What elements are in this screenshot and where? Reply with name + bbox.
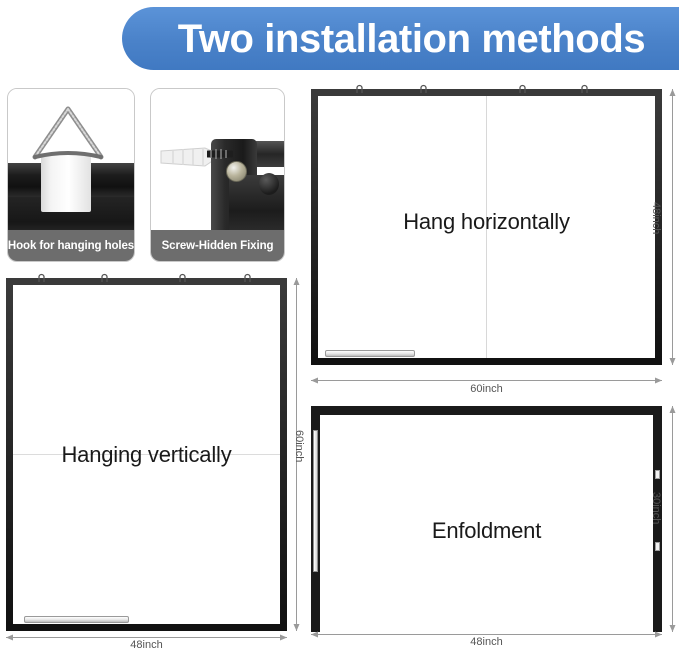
dimension-label-60inch: 60inch xyxy=(311,383,662,395)
hanging-hook-icon xyxy=(355,81,364,91)
roller-strip-icon xyxy=(325,350,415,357)
header-banner: Two installation methods xyxy=(122,7,679,70)
white-strap-icon xyxy=(41,155,91,212)
dimension-label-48inch-vertical-screen: 48inch xyxy=(6,639,287,651)
hanging-hook-icon xyxy=(243,270,252,280)
dimension-label-60inch: 60inch xyxy=(293,430,305,462)
hanging-hook-icon xyxy=(580,81,589,91)
screw-caption: Screw-Hidden Fixing xyxy=(151,230,284,261)
screen-label-horizontal: Hang horizontally xyxy=(311,209,662,235)
screw-photo-stage xyxy=(151,89,284,230)
dimension-line-48inch xyxy=(668,89,677,365)
right-post-notch-icon xyxy=(655,470,660,479)
screen-enfoldment: Enfoldment xyxy=(311,406,662,632)
dimension-line-30inch xyxy=(668,406,677,632)
screw-thread-icon xyxy=(207,145,233,163)
screen-hang-horizontally: Hang horizontally xyxy=(311,89,662,365)
hanging-hook-icon xyxy=(419,81,428,91)
knob-icon xyxy=(259,173,279,195)
hanging-hook-icon xyxy=(178,270,187,280)
dimension-label-48inch-enfoldment: 48inch xyxy=(311,636,662,648)
dimension-label-30inch: 30inch xyxy=(650,492,662,524)
hook-caption: Hook for hanging holes xyxy=(8,230,134,261)
hook-photo-stage xyxy=(8,89,134,230)
screw-head-icon xyxy=(226,161,247,182)
photo-card-hook: Hook for hanging holes xyxy=(7,88,135,262)
photo-card-screw: Screw-Hidden Fixing xyxy=(150,88,285,262)
page-title: Two installation methods xyxy=(178,19,645,59)
screen-label-vertical: Hanging vertically xyxy=(6,442,287,468)
left-post-strip-icon xyxy=(313,430,318,572)
triangle-hook-icon xyxy=(30,105,106,163)
screen-hanging-vertically: Hanging vertically xyxy=(6,278,287,631)
hanging-hook-icon xyxy=(37,270,46,280)
hanging-hook-icon xyxy=(100,270,109,280)
dimension-label-48inch: 48inch xyxy=(650,202,662,234)
hanging-hook-icon xyxy=(518,81,527,91)
screen-label-enfoldment: Enfoldment xyxy=(311,518,662,544)
roller-strip-icon xyxy=(24,616,129,623)
